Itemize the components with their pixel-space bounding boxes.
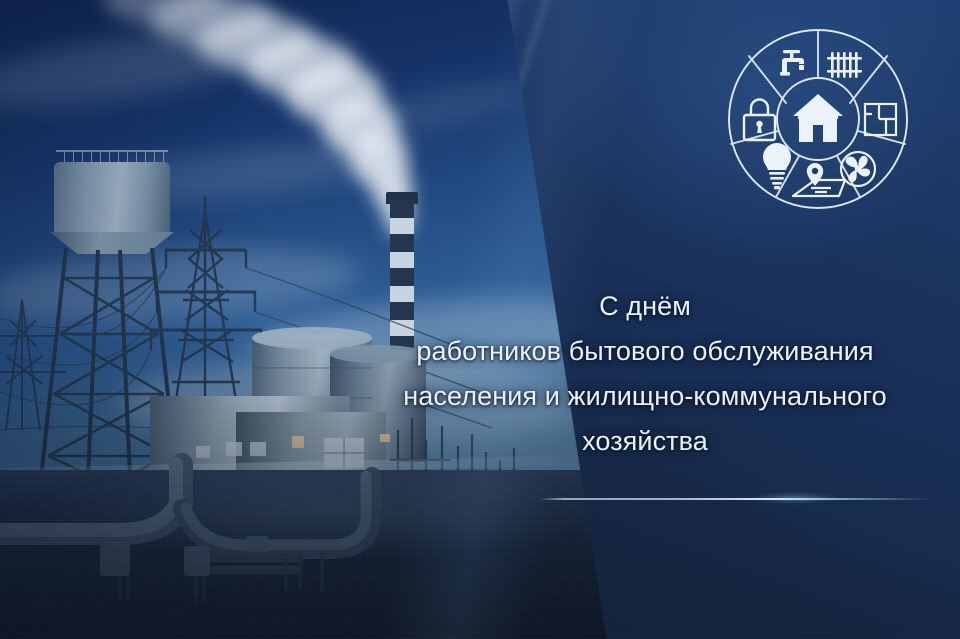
utilities-wheel-emblem [727, 28, 909, 210]
fan-icon [841, 152, 875, 186]
map-pin-icon [793, 180, 845, 196]
accent-divider [540, 497, 930, 501]
pipeline [0, 450, 640, 639]
greeting-line-1: С днём [330, 284, 960, 329]
greeting-text: С днём работников бытового обслуживания … [330, 284, 960, 464]
padlock-keyhole [756, 121, 762, 133]
house-icon [793, 94, 843, 142]
faucet-icon [780, 50, 804, 76]
floorplan-icon [865, 104, 896, 135]
lightbulb-icon [763, 143, 791, 189]
greeting-line-4: хозяйства [330, 419, 960, 464]
radiator-icon [827, 52, 862, 78]
greeting-banner: С днём работников бытового обслуживания … [0, 0, 960, 639]
accent-divider-glow [730, 492, 860, 504]
greeting-line-3: населения и жилищно-коммунального [330, 374, 960, 419]
map-pin-marker [807, 163, 823, 186]
greeting-line-2: работников бытового обслуживания [330, 329, 960, 374]
